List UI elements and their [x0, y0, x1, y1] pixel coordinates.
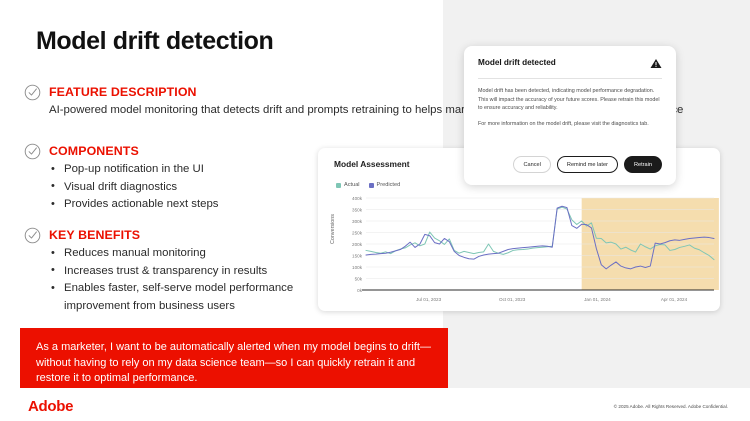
list-item: Pop-up notification in the UI: [49, 161, 219, 179]
svg-text:200k: 200k: [352, 242, 363, 247]
model-drift-dialog: Model drift detected Model drift has bee…: [464, 46, 676, 185]
copyright-text: © 2025 Adobe. All Rights Reserved. Adobe…: [614, 404, 728, 409]
dialog-title: Model drift detected: [478, 58, 556, 67]
section-title: FEATURE DESCRIPTION: [49, 84, 197, 100]
section-components: COMPONENTS Pop-up notification in the UI…: [24, 143, 219, 214]
legend-swatch-predicted: [369, 183, 374, 188]
list-item: Reduces manual monitoring: [49, 245, 299, 263]
cancel-button[interactable]: Cancel: [513, 156, 550, 173]
warning-triangle-icon: [650, 58, 662, 69]
legend-swatch-actual: [336, 183, 341, 188]
section-header: COMPONENTS: [24, 143, 219, 160]
legend-item-actual[interactable]: Actual: [336, 182, 360, 188]
section-title: KEY BENEFITS: [49, 227, 140, 243]
check-circle-icon: [24, 84, 41, 101]
list-item: Increases trust & transparency in result…: [49, 263, 299, 281]
legend-label-actual: Actual: [344, 182, 360, 188]
list-item: Provides actionable next steps: [49, 196, 219, 214]
dialog-body: Model drift has been detected, indicatin…: [478, 87, 662, 128]
check-circle-icon: [24, 227, 41, 244]
user-story-banner: As a marketer, I want to be automaticall…: [20, 328, 448, 390]
slide-root: Model drift detection FEATURE DESCRIPTIO…: [0, 0, 750, 421]
svg-text:Jul 01, 2023: Jul 01, 2023: [416, 297, 441, 302]
svg-text:Oct 01, 2023: Oct 01, 2023: [499, 297, 526, 302]
svg-text:350k: 350k: [352, 208, 363, 213]
section-key-benefits: KEY BENEFITS Reduces manual monitoring I…: [24, 227, 299, 315]
svg-text:Apr 01, 2024: Apr 01, 2024: [661, 297, 688, 302]
dialog-divider: [478, 78, 662, 79]
list-item: Visual drift diagnostics: [49, 179, 219, 197]
svg-text:300k: 300k: [352, 219, 363, 224]
dialog-paragraph-1: Model drift has been detected, indicatin…: [478, 87, 662, 113]
svg-text:150k: 150k: [352, 254, 363, 259]
svg-text:100k: 100k: [352, 265, 363, 270]
chart-title: Model Assessment: [334, 159, 410, 169]
list-item: Enables faster, self-serve model perform…: [49, 280, 299, 315]
retrain-button[interactable]: Retrain: [624, 156, 662, 173]
user-story-text: As a marketer, I want to be automaticall…: [36, 340, 432, 387]
svg-text:Jan 01, 2024: Jan 01, 2024: [584, 297, 611, 302]
legend-label-predicted: Predicted: [377, 182, 401, 188]
svg-text:250k: 250k: [352, 231, 363, 236]
check-circle-icon: [24, 143, 41, 160]
page-title: Model drift detection: [36, 27, 273, 56]
chart-legend: Actual Predicted: [336, 182, 400, 188]
legend-item-predicted[interactable]: Predicted: [369, 182, 401, 188]
dialog-paragraph-2: For more information on the model drift,…: [478, 120, 662, 129]
chart-svg: 0k50k100k150k200k250k300k350k400kJul 01,…: [318, 194, 720, 311]
svg-text:0k: 0k: [357, 288, 363, 293]
dialog-actions: Cancel Remind me later Retrain: [513, 156, 662, 173]
section-header: KEY BENEFITS: [24, 227, 299, 244]
section-bullet-list: Reduces manual monitoring Increases trus…: [49, 245, 299, 315]
section-title: COMPONENTS: [49, 143, 139, 159]
svg-text:50k: 50k: [355, 277, 363, 282]
svg-text:400k: 400k: [352, 196, 363, 201]
dialog-header: Model drift detected: [478, 58, 662, 69]
adobe-logo: Adobe: [28, 398, 73, 415]
chart-plot-area: Conversions 0k50k100k150k200k250k300k350…: [318, 194, 720, 311]
remind-me-later-button[interactable]: Remind me later: [557, 156, 618, 173]
section-bullet-list: Pop-up notification in the UI Visual dri…: [49, 161, 219, 214]
